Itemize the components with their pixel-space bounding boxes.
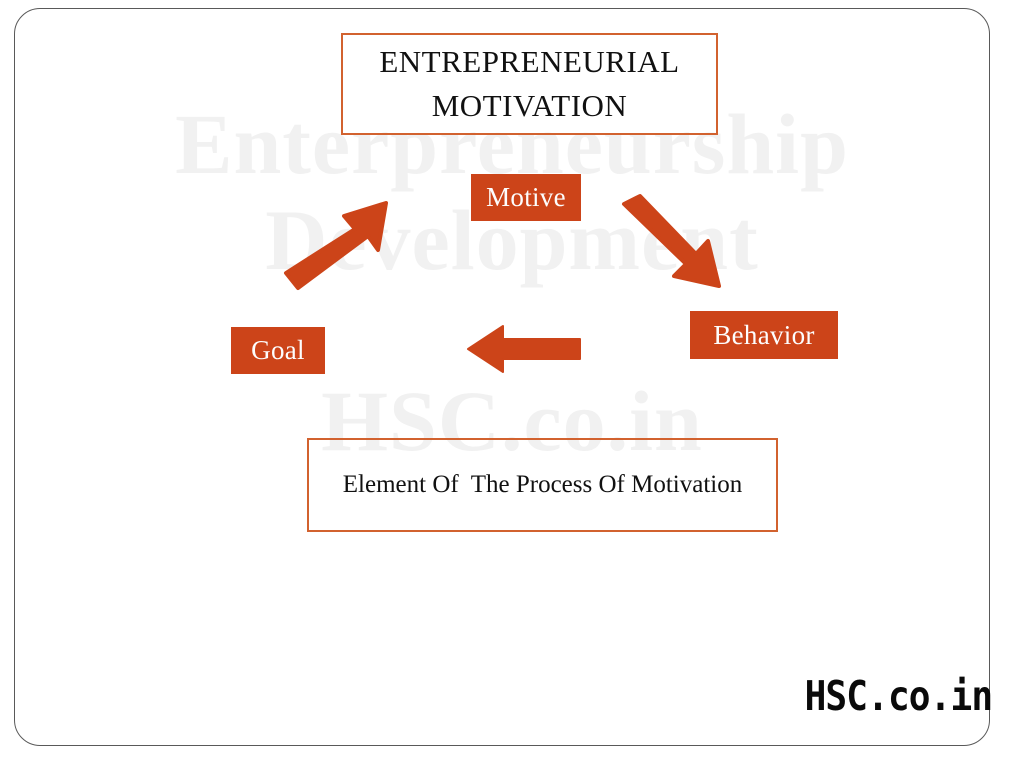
caption-box: Element Of The Process Of Motivation	[307, 438, 778, 532]
arrow-up-right-icon	[283, 200, 393, 292]
title-box: ENTREPRENEURIAL MOTIVATION	[341, 33, 718, 135]
node-behavior[interactable]: Behavior	[690, 311, 838, 359]
node-goal-label: Goal	[251, 337, 305, 364]
slide-canvas: Enterpreneurship Development HSC.co.in E…	[0, 0, 1024, 768]
arrow-left-icon	[466, 324, 582, 374]
arrow-down-right-icon	[618, 196, 728, 292]
hsc-logo: HSC.co.in	[804, 672, 992, 720]
node-motive[interactable]: Motive	[471, 174, 581, 221]
caption-text: Element Of The Process Of Motivation	[333, 466, 752, 505]
page-title: ENTREPRENEURIAL MOTIVATION	[343, 40, 716, 128]
node-behavior-label: Behavior	[713, 322, 814, 349]
background-watermark: Enterpreneurship Development HSC.co.in	[0, 96, 1024, 469]
node-motive-label: Motive	[486, 184, 566, 211]
node-goal[interactable]: Goal	[231, 327, 325, 374]
